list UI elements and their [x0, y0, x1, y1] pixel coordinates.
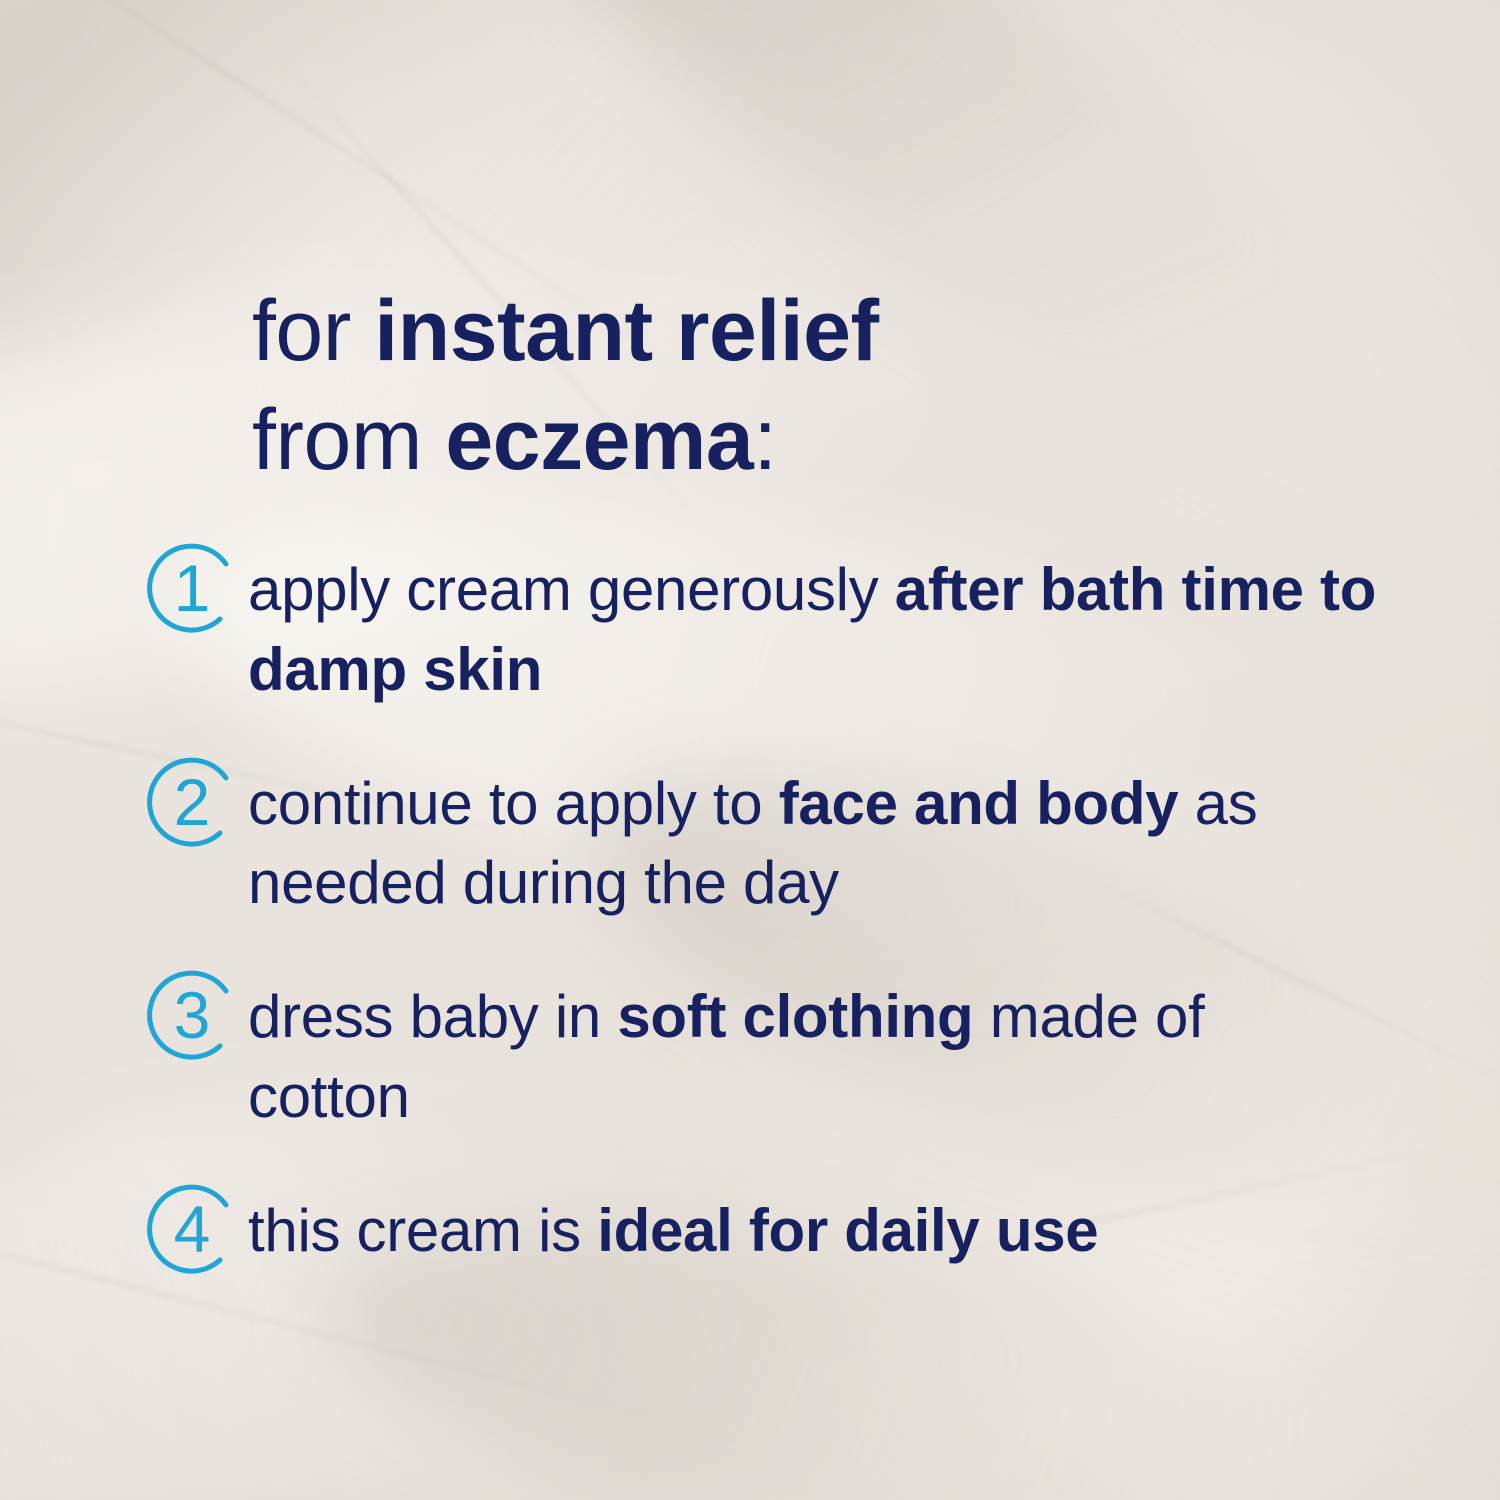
instruction-list: 1 apply cream generously after bath time…	[138, 548, 1378, 1281]
step-number-badge: 1	[138, 536, 242, 640]
headline-line-2: from eczema:	[252, 392, 777, 488]
promo-graphic: for instant relieffrom eczema: 1 apply c…	[0, 0, 1500, 1500]
step-number-label: 2	[138, 750, 242, 854]
step-number-label: 1	[138, 536, 242, 640]
step-number-label: 3	[138, 963, 242, 1067]
list-item-text: apply cream generously after bath time t…	[248, 548, 1378, 710]
list-item: 2 continue to apply to face and body as …	[138, 762, 1378, 924]
list-item: 4 this cream is ideal for daily use	[138, 1189, 1378, 1281]
step-number-badge: 4	[138, 1177, 242, 1281]
step-number-badge: 3	[138, 963, 242, 1067]
list-item-text: dress baby in soft clothing made of cott…	[248, 975, 1378, 1137]
step-number-label: 4	[138, 1177, 242, 1281]
list-item-text: this cream is ideal for daily use	[248, 1189, 1378, 1271]
step-number-badge: 2	[138, 750, 242, 854]
list-item: 3 dress baby in soft clothing made of co…	[138, 975, 1378, 1137]
list-item-text: continue to apply to face and body as ne…	[248, 762, 1378, 924]
headline-line-1: for instant relief	[252, 283, 879, 379]
page-title: for instant relieffrom eczema:	[252, 168, 1352, 496]
list-item: 1 apply cream generously after bath time…	[138, 548, 1378, 710]
